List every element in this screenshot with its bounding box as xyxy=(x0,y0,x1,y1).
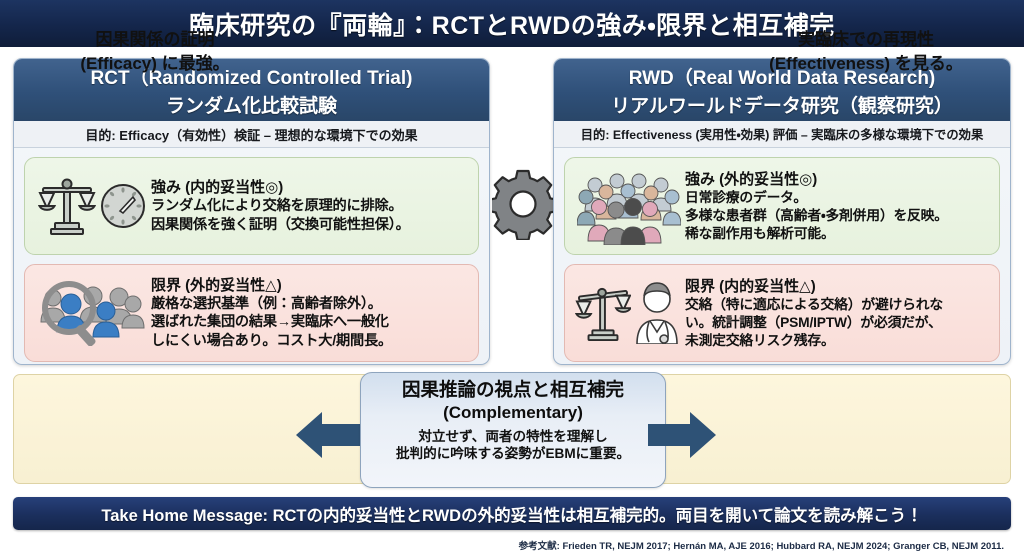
band-left-line2: (Efficacy) に最強。 xyxy=(30,52,280,76)
panel-rct: RCT（Randomized Controlled Trial) ランダム化比較… xyxy=(13,58,490,365)
rwd-strength-icons xyxy=(573,167,685,245)
rct-limit-line2: 選ばれた集団の結果→実臨床へ一般化 xyxy=(151,313,470,331)
rwd-strength-text: 強み (外的妥当性◎) 日常診療のデータ。 多様な患者群（高齢者・多剤併用）を反… xyxy=(685,170,991,243)
rct-limit-text: 限界 (外的妥当性△) 厳格な選択基準（例：高齢者除外）。 選ばれた集団の結果→… xyxy=(151,276,470,351)
rwd-limit-heading: 限界 (内的妥当性△) xyxy=(685,277,991,296)
panel-rct-purpose: 目的: Efficacy（有効性）検証 – 理想的な環境下での効果 xyxy=(14,121,489,148)
band-left-text: 因果関係の証明 (Efficacy) に最強。 xyxy=(30,28,280,76)
rct-limit-line1: 厳格な選択基準（例：高齢者除外）。 xyxy=(151,295,470,313)
rct-strength-line2: 因果関係を強く証明（交換可能性担保）。 xyxy=(151,216,470,234)
rwd-limit-box: 限界 (内的妥当性△) 交絡（特に適応による交絡）が避けられな い。統計調整（P… xyxy=(564,264,1000,362)
complementary-note-line2: 批判的に吟味する姿勢がEBMに重要。 xyxy=(396,445,630,463)
band-right-line1: 実臨床での再現性 xyxy=(732,28,1000,52)
take-home-message-text: Take Home Message: RCTの内的妥当性とRWDの外的妥当性は相… xyxy=(101,502,922,526)
complementary-subtitle: (Complementary) xyxy=(443,402,583,423)
rwd-strength-box: 強み (外的妥当性◎) 日常診療のデータ。 多様な患者群（高齢者・多剤併用）を反… xyxy=(564,157,1000,255)
panel-rwd-title-ja: リアルワールドデータ研究（観察研究） xyxy=(611,91,953,118)
rwd-strength-line1: 日常診療のデータ。 xyxy=(685,189,991,207)
rct-limit-icons xyxy=(33,280,151,346)
arrow-right-icon xyxy=(648,410,716,460)
panel-rwd-purpose: 目的: Effectiveness (実用性・効果) 評価 – 実臨床の多様な環… xyxy=(554,121,1010,148)
balance-scale-icon xyxy=(38,175,96,237)
panel-rwd: RWD（Real World Data Research) リアルワールドデータ… xyxy=(553,58,1011,365)
rct-limit-box: 限界 (外的妥当性△) 厳格な選択基準（例：高齢者除外）。 選ばれた集団の結果→… xyxy=(24,264,479,362)
complementary-box: 因果推論の視点と相互補完 (Complementary) 対立せず、両者の特性を… xyxy=(360,372,666,488)
magnifier-people-icon xyxy=(37,280,147,346)
gear-icon xyxy=(492,168,554,240)
balance-scale-icon xyxy=(575,281,631,345)
rct-limit-line3: しにくい場合あり。コスト大/期間長。 xyxy=(151,332,470,350)
rct-strength-icons xyxy=(33,175,151,237)
complementary-note-line1: 対立せず、両者の特性を理解し xyxy=(418,428,607,446)
panel-rct-title-ja: ランダム化比較試験 xyxy=(166,91,337,118)
rct-strength-line1: ランダム化により交絡を原理的に排除。 xyxy=(151,197,470,215)
arrow-left-icon xyxy=(296,410,364,460)
rwd-limit-icons xyxy=(573,281,685,345)
band-right-text: 実臨床での再現性 (Effectiveness) を見る。 xyxy=(732,28,1000,76)
infographic-slide: 臨床研究の『両輪』：RCTとRWDの強み・限界と相互補完 RCT（Randomi… xyxy=(0,0,1024,559)
rct-limit-heading: 限界 (外的妥当性△) xyxy=(151,276,470,295)
reference-citation: 参考文献: Frieden TR, NEJM 2017; Hernán MA, … xyxy=(0,538,1014,552)
band-right-line2: (Effectiveness) を見る。 xyxy=(732,52,1000,76)
rct-strength-heading: 強み (内的妥当性◎) xyxy=(151,178,470,197)
rct-strength-box: 強み (内的妥当性◎) ランダム化により交絡を原理的に排除。 因果関係を強く証明… xyxy=(24,157,479,255)
rwd-limit-line2: い。統計調整（PSM/IPTW）が必須だが、 xyxy=(685,314,991,332)
complementary-title: 因果推論の視点と相互補完 xyxy=(402,379,624,402)
rwd-strength-line2: 多様な患者群（高齢者・多剤併用）を反映。 xyxy=(685,207,991,225)
rwd-strength-heading: 強み (外的妥当性◎) xyxy=(685,170,991,189)
crowd-people-icon xyxy=(577,167,681,245)
rwd-limit-line1: 交絡（特に適応による交絡）が避けられな xyxy=(685,296,991,314)
band-left-line1: 因果関係の証明 xyxy=(30,28,280,52)
rct-strength-text: 強み (内的妥当性◎) ランダム化により交絡を原理的に排除。 因果関係を強く証明… xyxy=(151,178,470,234)
take-home-message-banner: Take Home Message: RCTの内的妥当性とRWDの外的妥当性は相… xyxy=(13,497,1011,530)
rwd-limit-line3: 未測定交絡リスク残存。 xyxy=(685,332,991,350)
rwd-limit-text: 限界 (内的妥当性△) 交絡（特に適応による交絡）が避けられな い。統計調整（P… xyxy=(685,277,991,350)
clock-dial-icon xyxy=(100,183,146,229)
rwd-strength-line3: 稀な副作用も解析可能。 xyxy=(685,225,991,243)
doctor-icon xyxy=(631,282,683,344)
